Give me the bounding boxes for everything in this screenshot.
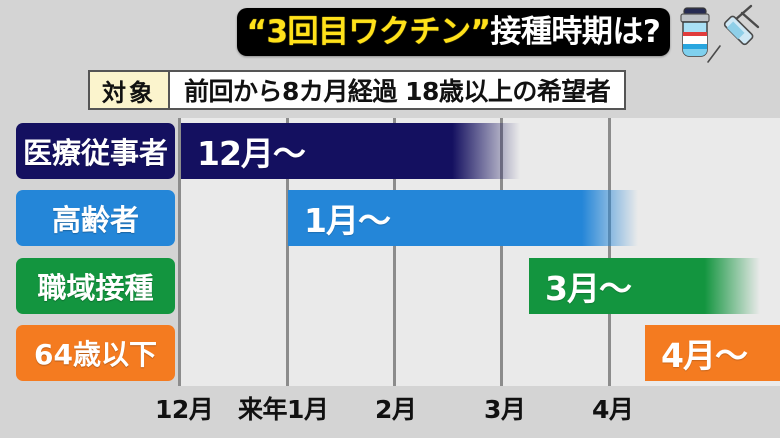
axis-tick-4gatsu: 4月: [592, 390, 633, 426]
bar-label-elderly: 1月〜: [288, 194, 390, 242]
target-audience-label: 対象: [90, 72, 170, 108]
row-label-workplace: 職域接種: [16, 258, 175, 314]
bar-under64: 4月〜: [645, 325, 780, 381]
chart-row-medical-workers: 医療従事者 12月〜: [0, 123, 780, 179]
page-title: “3回目ワクチン”接種時期は?: [247, 17, 661, 48]
bar-elderly: 1月〜: [288, 190, 638, 246]
vaccine-vial-syringe-icon: [672, 2, 776, 70]
axis-tick-labels: 12月 来年1月 2月 3月 4月: [0, 388, 780, 438]
row-label-elderly: 高齢者: [16, 190, 175, 246]
vial-icon: [681, 8, 709, 56]
bar-workplace: 3月〜: [529, 258, 760, 314]
title-bar: “3回目ワクチン”接種時期は?: [237, 8, 670, 56]
row-label-under64: 64歳以下: [16, 325, 175, 381]
title-accent-text: “3回目ワクチン”: [247, 14, 491, 50]
chart-row-workplace: 職域接種 3月〜: [0, 258, 780, 314]
axis-tick-2gatsu: 2月: [375, 390, 416, 426]
bar-label-under64: 4月〜: [645, 329, 747, 377]
axis-tick-1gatsu: 来年1月: [238, 390, 328, 426]
target-audience-value: 前回から8カ月経過 18歳以上の希望者: [170, 72, 624, 108]
bar-label-medical-workers: 12月〜: [181, 127, 305, 175]
title-plain-text: 接種時期は?: [490, 14, 660, 50]
chart-row-under64: 64歳以下 4月〜: [0, 325, 780, 381]
axis-tick-12gatsu: 12月: [155, 390, 213, 426]
bar-medical-workers: 12月〜: [181, 123, 520, 179]
chart-row-elderly: 高齢者 1月〜: [0, 190, 780, 246]
syringe-icon: [708, 6, 758, 62]
axis-tick-3gatsu: 3月: [484, 390, 525, 426]
row-label-medical-workers: 医療従事者: [16, 123, 175, 179]
bar-label-workplace: 3月〜: [529, 262, 631, 310]
target-audience-row: 対象 前回から8カ月経過 18歳以上の希望者: [88, 70, 626, 110]
